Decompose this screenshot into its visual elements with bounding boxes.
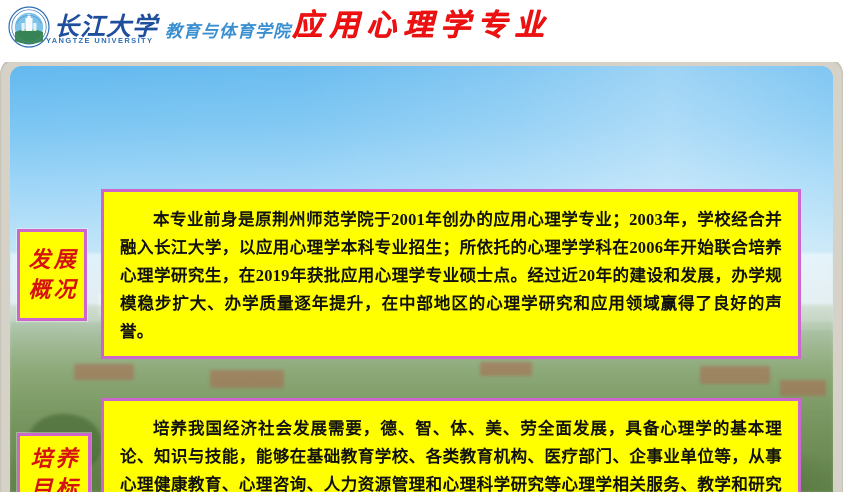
section-tag-development: 发展 概况 xyxy=(17,229,87,321)
section-body-development: 本专业前身是原荆州师范学院于2001年创办的应用心理学专业；2003年，学校经合… xyxy=(120,206,782,346)
section-panel-development: 本专业前身是原荆州师范学院于2001年创办的应用心理学专业；2003年，学校经合… xyxy=(101,189,801,359)
rooftop xyxy=(780,380,826,396)
section-panel-goals: 培养我国经济社会发展需要，德、智、体、美、劳全面发展，具备心理学的基本理论、知识… xyxy=(101,398,801,492)
rooftop xyxy=(74,364,134,380)
rooftop xyxy=(700,366,770,384)
section-tag-goals: 培养 目标 xyxy=(17,433,91,492)
slide-canvas: 长江大学 教育与体育学院 YANGTZE UNIVERSITY 应用心理学专业 xyxy=(0,0,843,492)
rooftop xyxy=(210,370,284,388)
rooftop xyxy=(480,362,532,376)
college-name-cn: 教育与体育学院 xyxy=(165,17,291,42)
slide-body-frame: 发展 概况 本专业前身是原荆州师范学院于2001年创办的应用心理学专业；2003… xyxy=(0,58,843,492)
university-name-en: YANGTZE UNIVERSITY xyxy=(46,36,153,45)
tag-line: 目标 xyxy=(27,474,80,492)
section-body-goals: 培养我国经济社会发展需要，德、智、体、美、劳全面发展，具备心理学的基本理论、知识… xyxy=(120,415,782,492)
tag-line: 发展 xyxy=(25,245,78,275)
slide-header: 长江大学 教育与体育学院 YANGTZE UNIVERSITY 应用心理学专业 xyxy=(0,0,843,62)
university-seal-icon xyxy=(8,6,50,48)
tag-line: 概况 xyxy=(25,275,78,305)
tag-line: 培养 xyxy=(27,444,80,474)
